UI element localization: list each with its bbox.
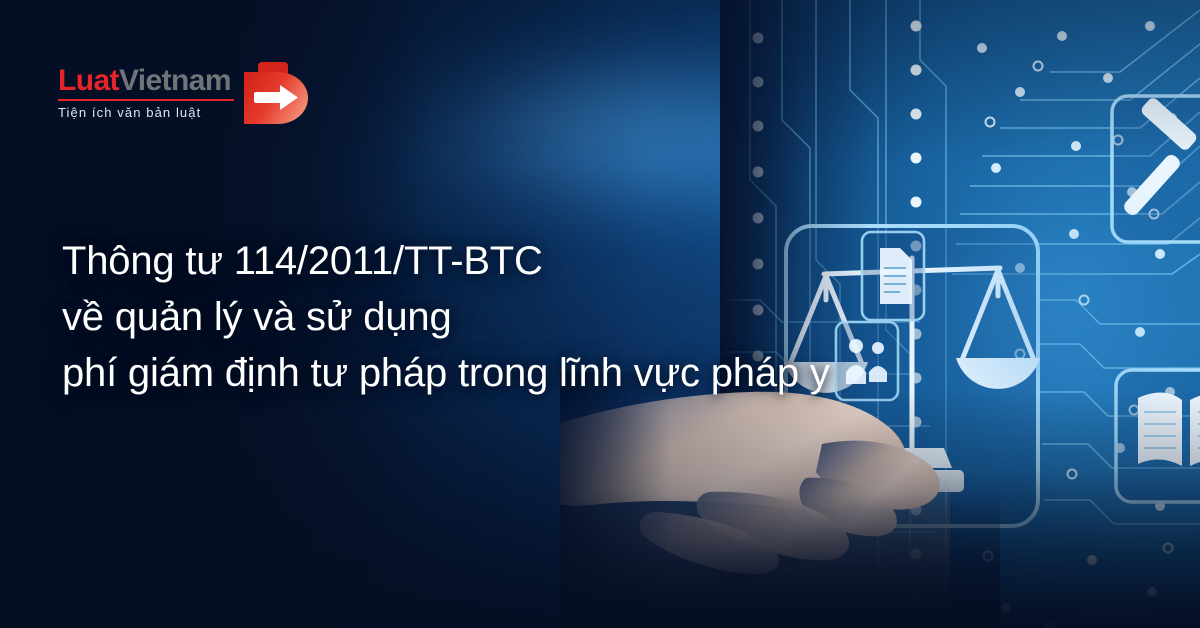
luatvietnam-logo[interactable]: LuatVietnam Tiện ích văn bản luật (58, 58, 314, 128)
document-title: Thông tư 114/2011/TT-BTC về quản lý và s… (62, 233, 830, 401)
title-line-1: Thông tư 114/2011/TT-BTC (62, 233, 830, 289)
logo-word-luat: Luat (58, 64, 119, 97)
title-line-3: phí giám định tư pháp trong lĩnh vực phá… (62, 345, 830, 401)
folder-arrow-icon (240, 60, 314, 128)
logo-word: LuatVietnam (58, 66, 234, 96)
logo-underline (58, 99, 234, 101)
logo-tagline: Tiện ích văn bản luật (58, 105, 234, 120)
logo-word-vietnam: Vietnam (119, 64, 231, 97)
logo-wordmark: LuatVietnam Tiện ích văn bản luật (58, 58, 234, 120)
banner-canvas: LuatVietnam Tiện ích văn bản luật (0, 0, 1200, 628)
title-line-2: về quản lý và sử dụng (62, 289, 830, 345)
